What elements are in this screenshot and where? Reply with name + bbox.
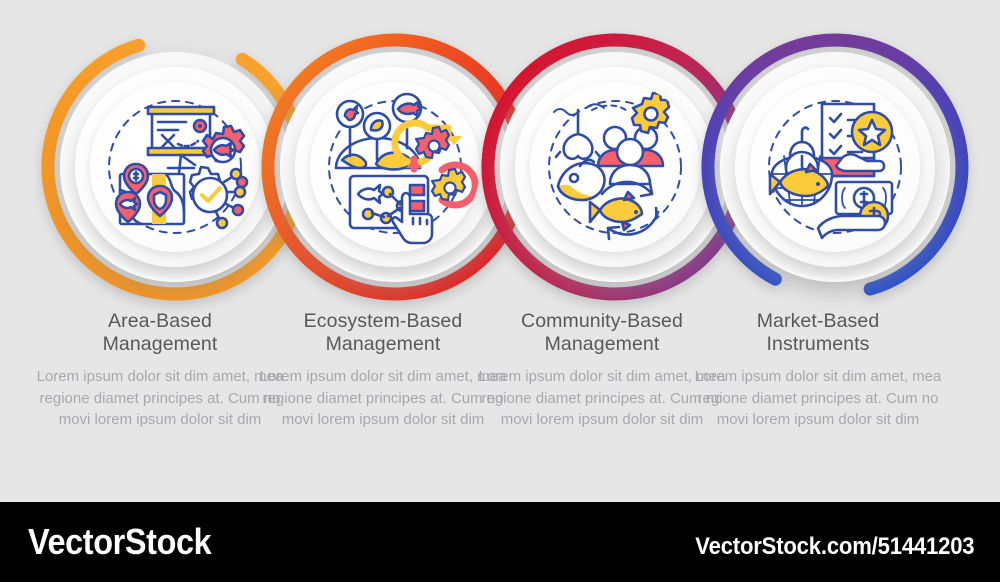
step-label-1: Area-Based Management Lorem ipsum dolor …: [35, 310, 285, 431]
step-title-1: Area-Based Management: [35, 310, 285, 356]
step-node-market-based-instruments[interactable]: [720, 52, 950, 282]
community-management-icon: [530, 82, 700, 252]
infographic-stage: Area-Based Management Lorem ipsum dolor …: [0, 0, 1000, 502]
icon-disc-4: [750, 82, 920, 252]
step-description-4: Lorem ipsum dolor sit dim amet, mea regi…: [693, 366, 943, 431]
icon-disc-1: [90, 82, 260, 252]
vectorstock-url: VectorStock.com/51441203: [695, 533, 974, 561]
area-management-icon: [90, 82, 260, 252]
market-instruments-icon: [750, 82, 920, 252]
step-label-4: Market-Based Instruments Lorem ipsum dol…: [693, 310, 943, 431]
step-title-2: Ecosystem-Based Management: [258, 310, 508, 356]
icon-disc-2: [310, 82, 480, 252]
step-label-3: Community-Based Management Lorem ipsum d…: [477, 310, 727, 431]
vectorstock-logo: VectorStock: [28, 521, 211, 563]
step-node-area-based-management[interactable]: [60, 52, 290, 282]
step-description-1: Lorem ipsum dolor sit dim amet, mea regi…: [35, 366, 285, 431]
step-node-ecosystem-based-management[interactable]: [280, 52, 510, 282]
step-title-3: Community-Based Management: [477, 310, 727, 356]
icon-disc-3: [530, 82, 700, 252]
ecosystem-management-icon: [310, 82, 480, 252]
step-label-2: Ecosystem-Based Management Lorem ipsum d…: [258, 310, 508, 431]
watermark-footer: VectorStock VectorStock.com/51441203: [0, 502, 1000, 582]
step-description-2: Lorem ipsum dolor sit dim amet, mea regi…: [258, 366, 508, 431]
step-title-4: Market-Based Instruments: [693, 310, 943, 356]
step-description-3: Lorem ipsum dolor sit dim amet, mea regi…: [477, 366, 727, 431]
step-node-community-based-management[interactable]: [500, 52, 730, 282]
